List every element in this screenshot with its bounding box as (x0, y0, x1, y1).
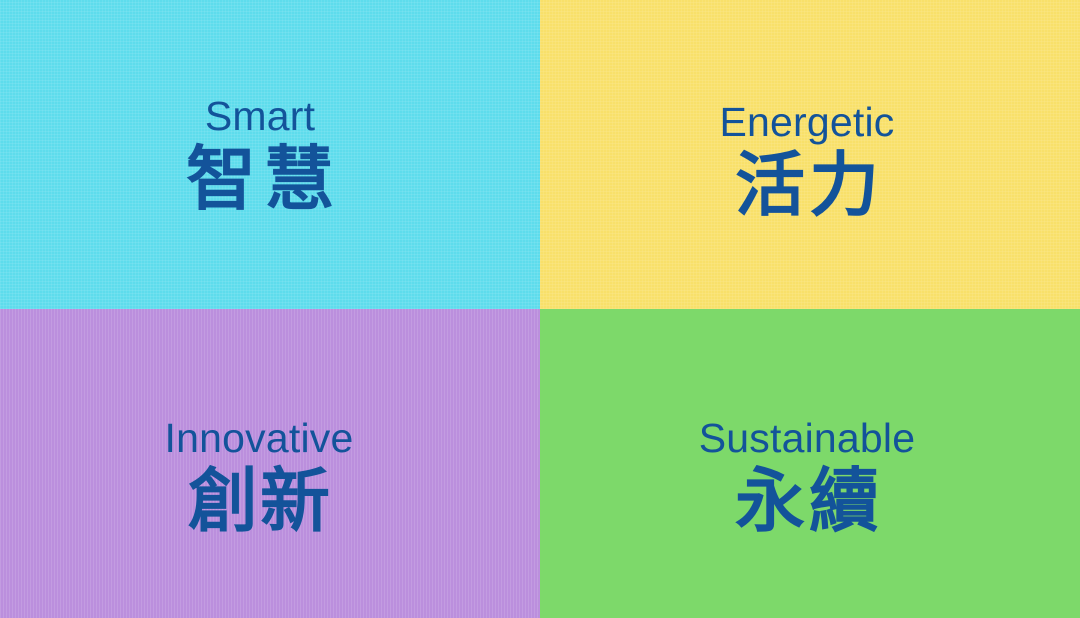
panel-text-block-sustainable: Sustainable 永續 (699, 418, 915, 539)
panel-label-en-smart: Smart (205, 96, 315, 137)
panel-text-block-innovative: Innovative 創新 (165, 418, 354, 539)
panel-innovative: Innovative 創新 (0, 309, 540, 618)
panel-energetic: Energetic 活力 (540, 0, 1080, 309)
panel-label-en-sustainable: Sustainable (699, 418, 915, 459)
panel-smart: Smart 智慧 (0, 0, 540, 309)
panel-sustainable: Sustainable 永續 (540, 309, 1080, 618)
panel-label-en-innovative: Innovative (165, 418, 354, 459)
panel-text-block-smart: Smart 智慧 (178, 96, 342, 217)
brand-values-grid: Smart 智慧 Energetic 活力 Innovative 創新 Sust… (0, 0, 1080, 618)
panel-label-zh-smart: 智慧 (178, 143, 342, 217)
panel-label-zh-energetic: 活力 (731, 149, 883, 223)
panel-label-zh-sustainable: 永續 (731, 465, 883, 539)
panel-text-block-energetic: Energetic 活力 (719, 102, 894, 223)
panel-label-en-energetic: Energetic (719, 102, 894, 143)
panel-label-zh-innovative: 創新 (186, 465, 332, 539)
